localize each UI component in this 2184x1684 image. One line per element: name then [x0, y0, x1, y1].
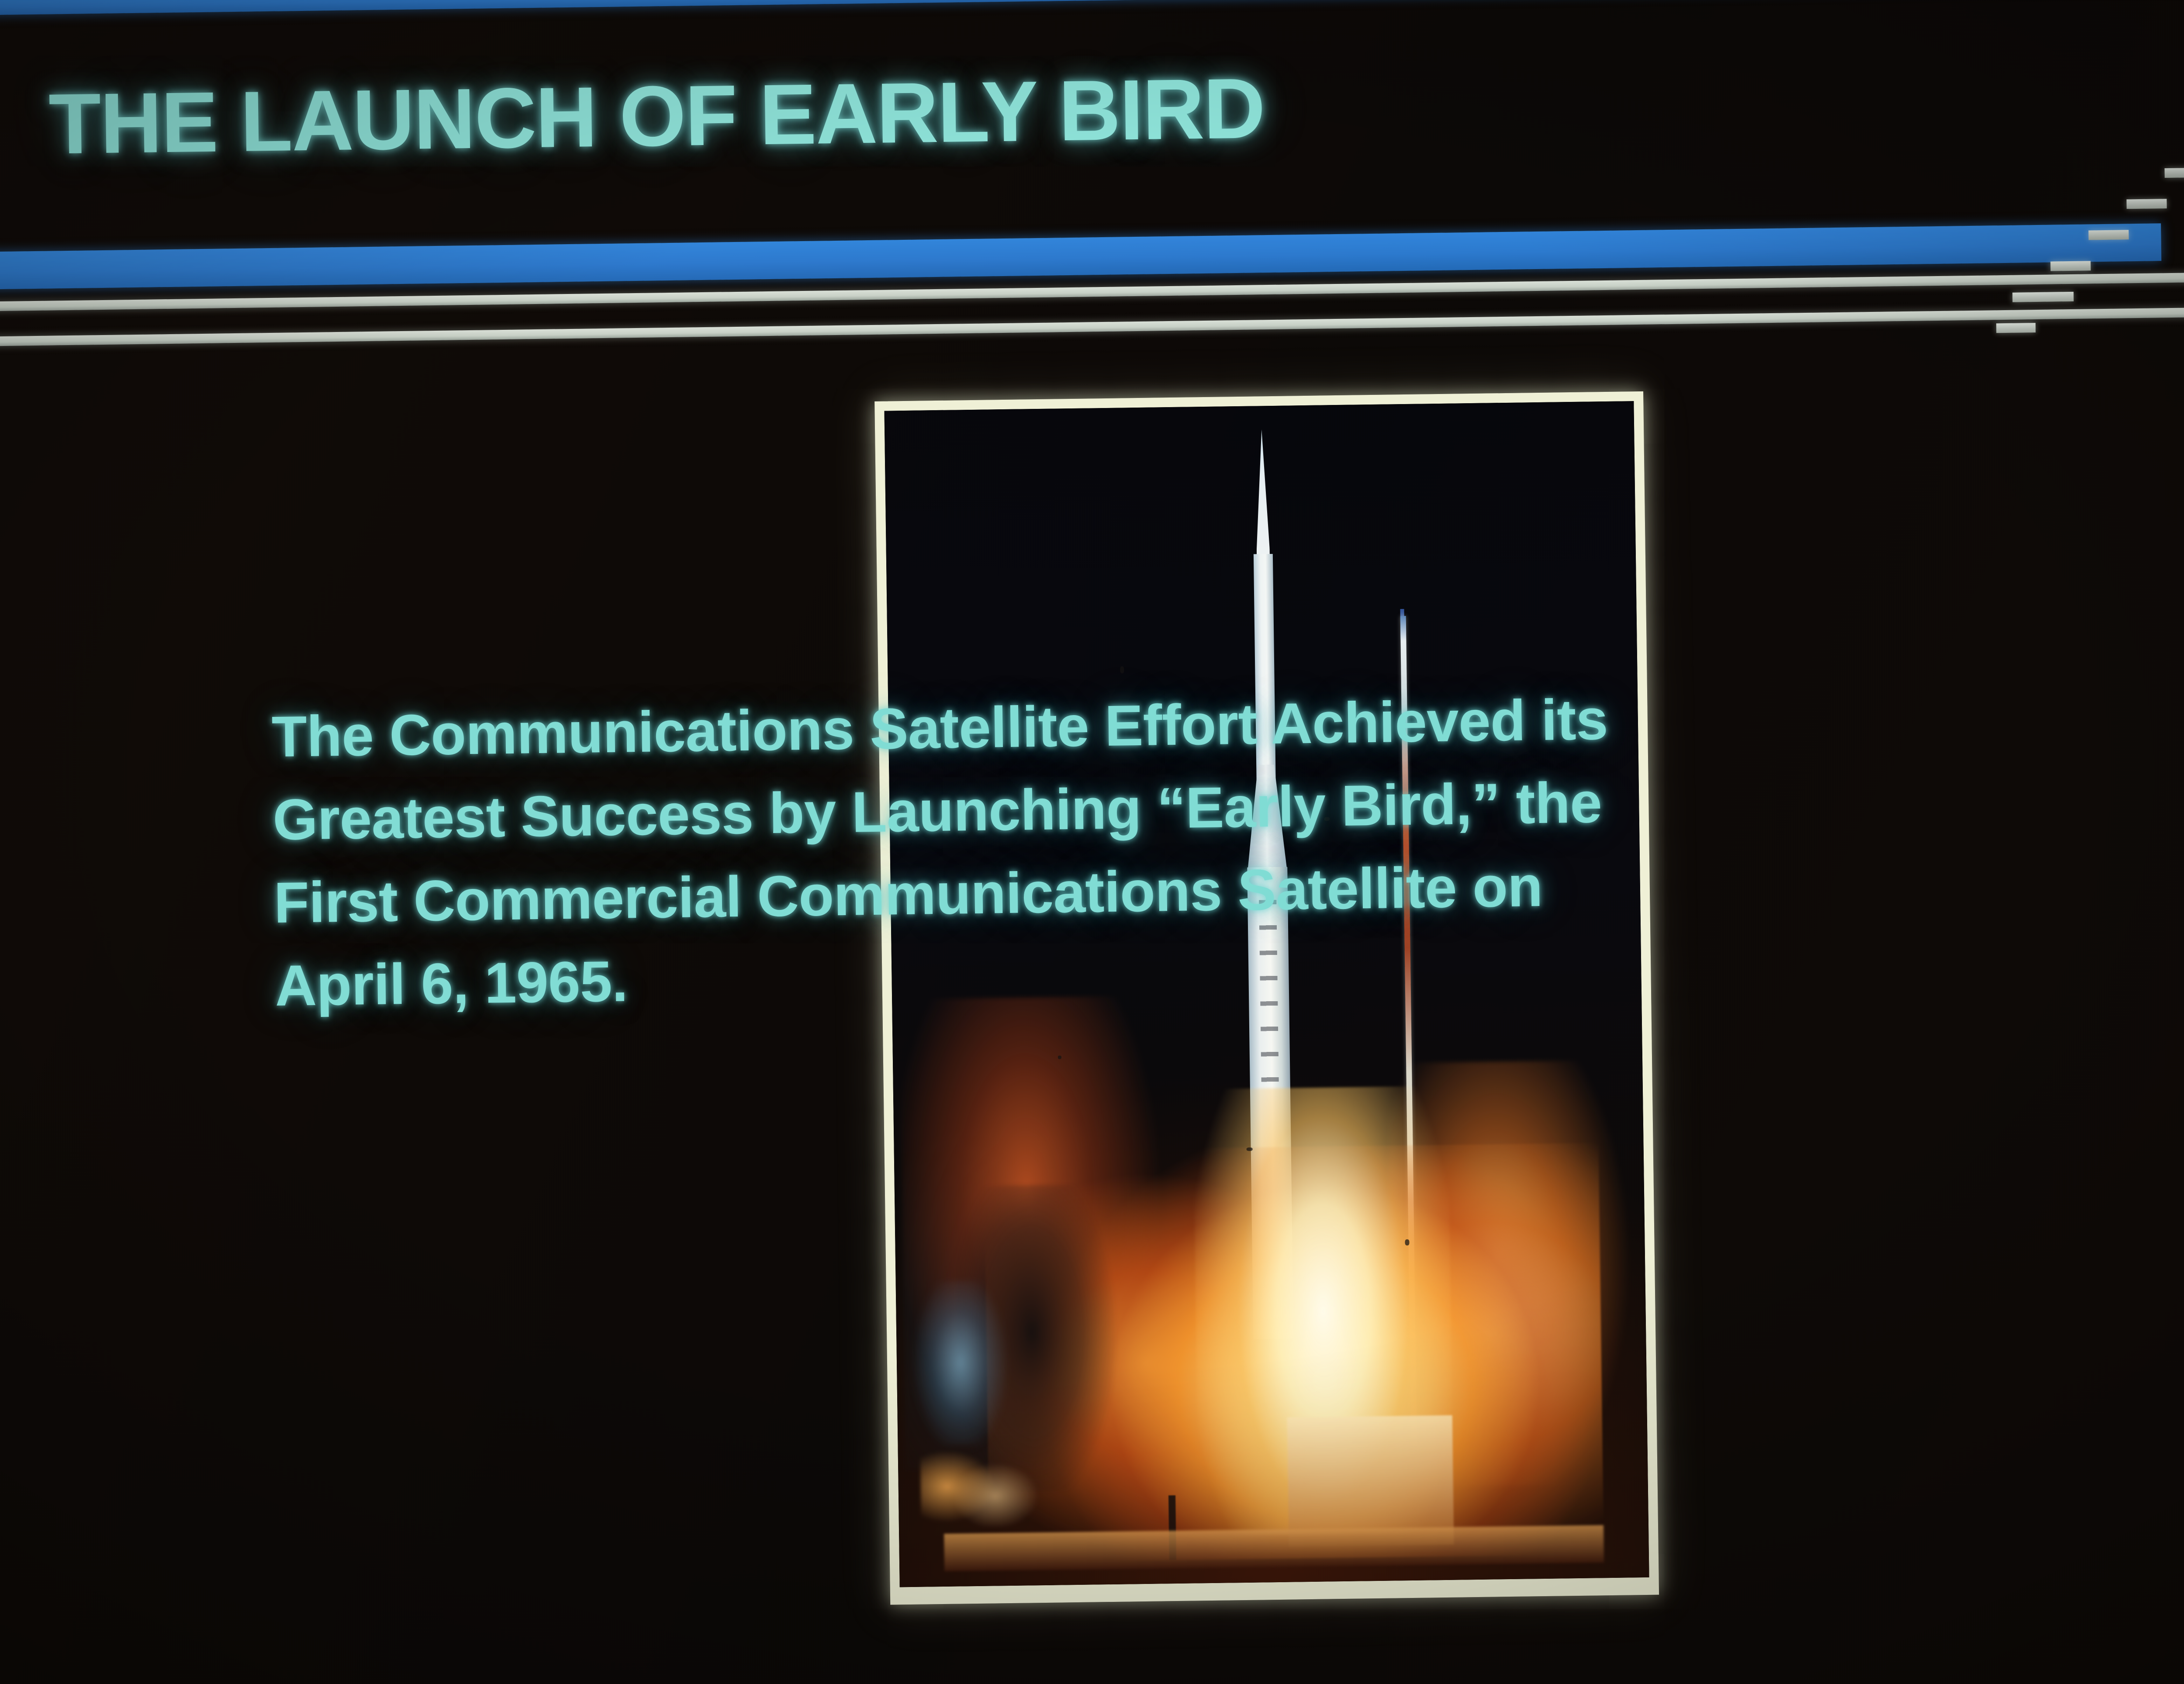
dust-speck	[1057, 1056, 1061, 1059]
dust-speck	[1246, 1147, 1252, 1151]
dust-speck	[1405, 1239, 1409, 1245]
stair-step-dash	[2050, 261, 2091, 271]
second-white-rule	[0, 308, 2184, 346]
stair-step-dash	[2126, 199, 2167, 209]
blue-steam	[911, 1280, 1010, 1446]
presentation-slide: THE LAUNCH OF EARLY BIRD	[0, 0, 2184, 1684]
slide-artwork: THE LAUNCH OF EARLY BIRD	[0, 0, 2184, 1684]
dust-speck	[1120, 667, 1124, 674]
stair-step-dash	[2088, 230, 2129, 240]
pad-lights	[920, 1444, 1041, 1528]
stair-step-dash	[2012, 292, 2073, 302]
slide-title: THE LAUNCH OF EARLY BIRD	[48, 66, 1265, 167]
stair-step-dash	[2164, 168, 2184, 178]
body-copy: The Communications Satellite Effort Achi…	[271, 669, 2184, 1028]
top-blue-rule	[0, 0, 2184, 15]
stair-step-dash	[1996, 323, 2035, 333]
